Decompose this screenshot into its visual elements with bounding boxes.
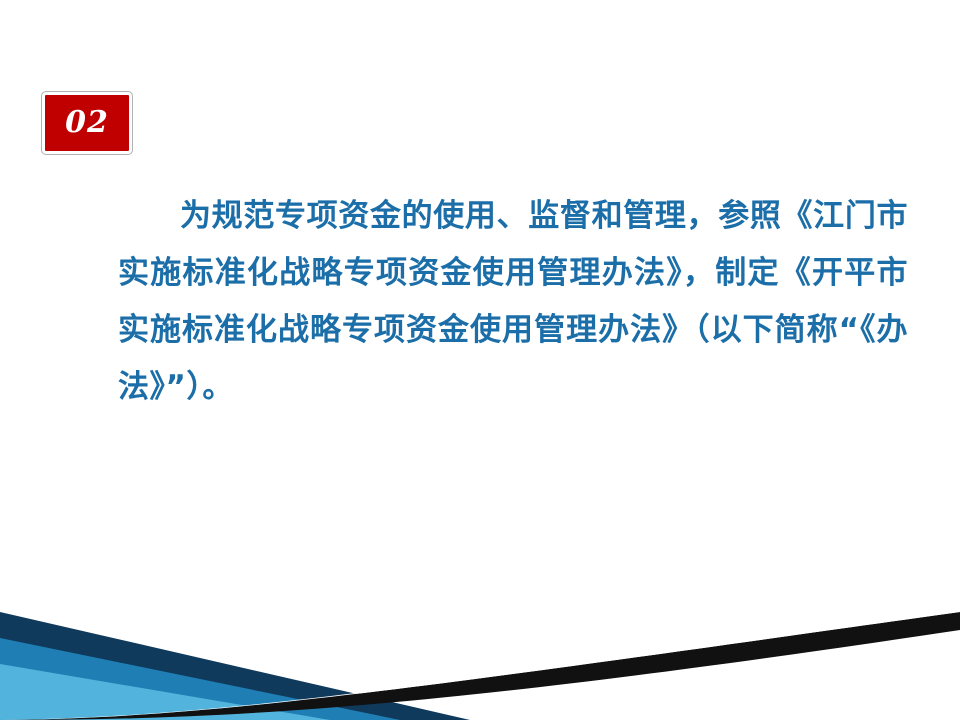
bottom-decoration bbox=[0, 590, 960, 720]
slide-canvas: 02 为规范专项资金的使用、监督和管理，参照《江门市实施标准化战略专项资金使用管… bbox=[0, 0, 960, 720]
body-paragraph: 为规范专项资金的使用、监督和管理，参照《江门市实施标准化战略专项资金使用管理办法… bbox=[118, 188, 908, 416]
section-number-label: 02 bbox=[65, 108, 109, 138]
section-number-badge: 02 bbox=[42, 92, 132, 154]
